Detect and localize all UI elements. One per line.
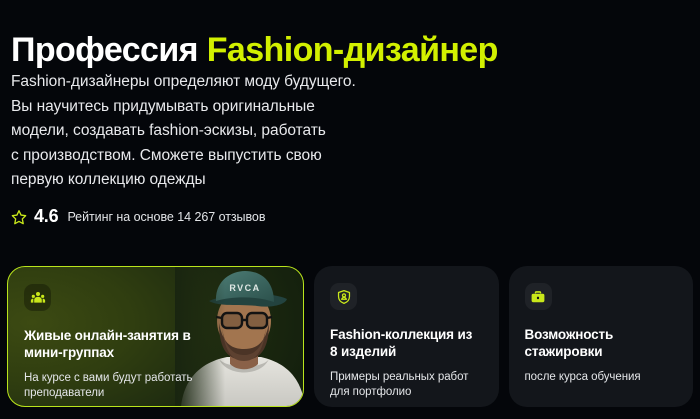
feature-card-title: Возможность стажировки [525, 326, 678, 360]
rating-caption: Рейтинг на основе 14 267 отзывов [67, 210, 265, 224]
page-title: Профессия Fashion-дизайнер [11, 30, 498, 70]
description-line: Fashion-дизайнеры определяют моду будуще… [11, 70, 411, 95]
feature-card-fashion-collection[interactable]: Fashion-коллекция из 8 изделий Примеры р… [314, 266, 499, 407]
rating-value: 4.6 [34, 206, 58, 227]
briefcase-icon [525, 283, 552, 310]
page-title-accent-part: Fashion-дизайнер [207, 31, 498, 69]
feature-card-internship[interactable]: Возможность стажировки после курса обуче… [509, 266, 694, 407]
description-line: модели, создавать fashion-эскизы, работа… [11, 119, 411, 144]
description-line: с производством. Сможете выпустить свою [11, 144, 411, 169]
course-description: Fashion-дизайнеры определяют моду будуще… [11, 70, 411, 193]
feature-card-subtitle: На курсе с вами будут работать преподава… [24, 371, 196, 401]
course-hero-page: Профессия Fashion-дизайнер Fashion-дизай… [0, 0, 700, 419]
rating-block: 4.6 Рейтинг на основе 14 267 отзывов [11, 206, 265, 227]
feature-cards-row: RVCA [7, 266, 693, 407]
feature-card-content: Живые онлайн-занятия в мини-группах На к… [8, 267, 303, 401]
feature-card-title: Fashion-коллекция из 8 изделий [330, 326, 483, 360]
description-line: Вы научитесь придумывать оригинальные [11, 95, 411, 120]
description-line: первую коллекцию одежды [11, 168, 411, 193]
page-title-white-part: Профессия [11, 31, 198, 69]
feature-card-content: Fashion-коллекция из 8 изделий Примеры р… [314, 266, 499, 400]
feature-card-live-classes[interactable]: RVCA [7, 266, 304, 407]
feature-card-subtitle: Примеры реальных работ для портфолио [330, 370, 483, 400]
feature-card-title: Живые онлайн-занятия в мини-группах [24, 327, 202, 361]
star-icon [11, 209, 27, 225]
shield-hanger-icon [330, 283, 357, 310]
feature-card-subtitle: после курса обучения [525, 370, 678, 385]
group-people-icon [24, 284, 51, 311]
feature-card-content: Возможность стажировки после курса обуче… [509, 266, 694, 385]
